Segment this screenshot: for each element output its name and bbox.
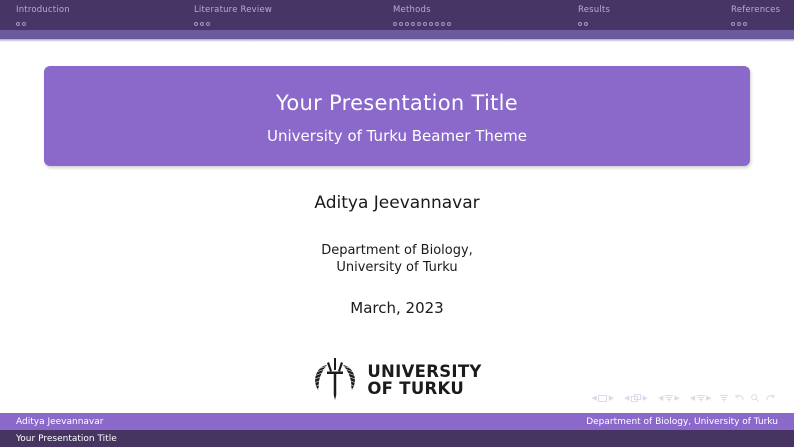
title-block: Your Presentation Title University of Tu… (44, 66, 750, 166)
nav-back-group[interactable] (735, 394, 744, 402)
nav-presentation-group[interactable] (720, 394, 728, 402)
nav-section-introduction[interactable]: Introduction (16, 0, 70, 30)
nav-slide-dot[interactable] (578, 22, 582, 26)
prev-subsection-arrow-icon[interactable]: ◀ (658, 395, 663, 402)
nav-search-group[interactable] (751, 394, 759, 402)
header-accent-bar (0, 30, 794, 39)
nav-slide-dot[interactable] (429, 22, 433, 26)
presentation-icon[interactable] (720, 394, 728, 402)
nav-section-dots[interactable] (578, 20, 610, 29)
section-icon[interactable] (697, 394, 705, 402)
nav-slide-dot[interactable] (22, 22, 26, 26)
logo-wordmark-line-2: OF TURKU (367, 380, 481, 397)
nav-section-dots[interactable] (393, 20, 453, 29)
nav-section-label: Results (578, 6, 610, 15)
author-name: Aditya Jeevannavar (0, 193, 794, 213)
presentation-date: March, 2023 (0, 299, 794, 317)
nav-slide-group[interactable]: ◀ ▶ (590, 395, 616, 402)
nav-frame-group[interactable]: ◀ ▶ (623, 394, 650, 402)
nav-section-label: Methods (393, 6, 453, 15)
nav-section-label: Introduction (16, 6, 70, 15)
nav-slide-dot[interactable] (447, 22, 451, 26)
presentation-title: Your Presentation Title (44, 91, 750, 115)
nav-section-dots[interactable] (16, 20, 70, 29)
nav-slide-dot[interactable] (417, 22, 421, 26)
institute-line-2: University of Turku (0, 259, 794, 276)
nav-section-dots[interactable] (731, 20, 780, 29)
prev-section-arrow-icon[interactable]: ◀ (690, 395, 695, 402)
beamer-navigation-symbols[interactable]: ◀ ▶ ◀ ▶ ◀ ▶ ◀ (590, 392, 782, 404)
slide-icon[interactable] (598, 395, 607, 402)
prev-frame-arrow-icon[interactable]: ◀ (624, 395, 629, 402)
nav-section-results[interactable]: Results (578, 0, 610, 30)
nav-slide-dot[interactable] (399, 22, 403, 26)
institute-line-1: Department of Biology, (0, 242, 794, 259)
forward-icon[interactable] (766, 394, 775, 402)
logo-wordmark-line-1: UNIVERSITY (367, 363, 481, 380)
nav-section-dots[interactable] (194, 20, 272, 29)
nav-section-group[interactable]: ◀ ▶ (688, 394, 713, 402)
nav-section-label: References (731, 6, 780, 15)
header-shadow (0, 39, 794, 42)
nav-subsection-group[interactable]: ◀ ▶ (656, 394, 681, 402)
back-icon[interactable] (735, 394, 744, 402)
nav-slide-dot[interactable] (194, 22, 198, 26)
nav-section-literature-review[interactable]: Literature Review (194, 0, 272, 30)
next-frame-arrow-icon[interactable]: ▶ (643, 395, 648, 402)
frame-icon[interactable] (631, 394, 641, 402)
nav-slide-dot[interactable] (206, 22, 210, 26)
nav-slide-dot[interactable] (405, 22, 409, 26)
next-slide-arrow-icon[interactable]: ▶ (609, 395, 614, 402)
subsection-icon[interactable] (665, 394, 673, 402)
nav-slide-dot[interactable] (584, 22, 588, 26)
nav-slide-dot[interactable] (737, 22, 741, 26)
nav-slide-dot[interactable] (393, 22, 397, 26)
nav-forward-group[interactable] (766, 394, 775, 402)
nav-slide-dot[interactable] (423, 22, 427, 26)
nav-slide-dot[interactable] (411, 22, 415, 26)
nav-section-methods[interactable]: Methods (393, 0, 453, 30)
nav-slide-dot[interactable] (441, 22, 445, 26)
nav-slide-dot[interactable] (731, 22, 735, 26)
nav-slide-dot[interactable] (200, 22, 204, 26)
footer-upper-bar: Aditya Jeevannavar Department of Biology… (0, 413, 794, 430)
footer-author: Aditya Jeevannavar (16, 417, 103, 427)
next-section-arrow-icon[interactable]: ▶ (706, 395, 711, 402)
search-icon[interactable] (751, 394, 759, 402)
nav-section-references[interactable]: References (731, 0, 780, 30)
logo-wordmark: UNIVERSITY OF TURKU (367, 363, 481, 397)
footer-title: Your Presentation Title (16, 434, 117, 444)
prev-slide-arrow-icon[interactable]: ◀ (591, 395, 596, 402)
institute-block: Department of Biology, University of Tur… (0, 242, 794, 276)
nav-slide-dot[interactable] (435, 22, 439, 26)
next-subsection-arrow-icon[interactable]: ▶ (674, 395, 679, 402)
beamer-title-slide: Introduction Literature Review Methods R… (0, 0, 794, 447)
presentation-subtitle: University of Turku Beamer Theme (44, 127, 750, 145)
footer-lower-bar: Your Presentation Title (0, 430, 794, 447)
nav-slide-dot[interactable] (16, 22, 20, 26)
footer-institute: Department of Biology, University of Tur… (586, 417, 778, 427)
nav-slide-dot[interactable] (743, 22, 747, 26)
turku-torch-wreath-emblem (312, 355, 358, 405)
nav-section-label: Literature Review (194, 6, 272, 15)
